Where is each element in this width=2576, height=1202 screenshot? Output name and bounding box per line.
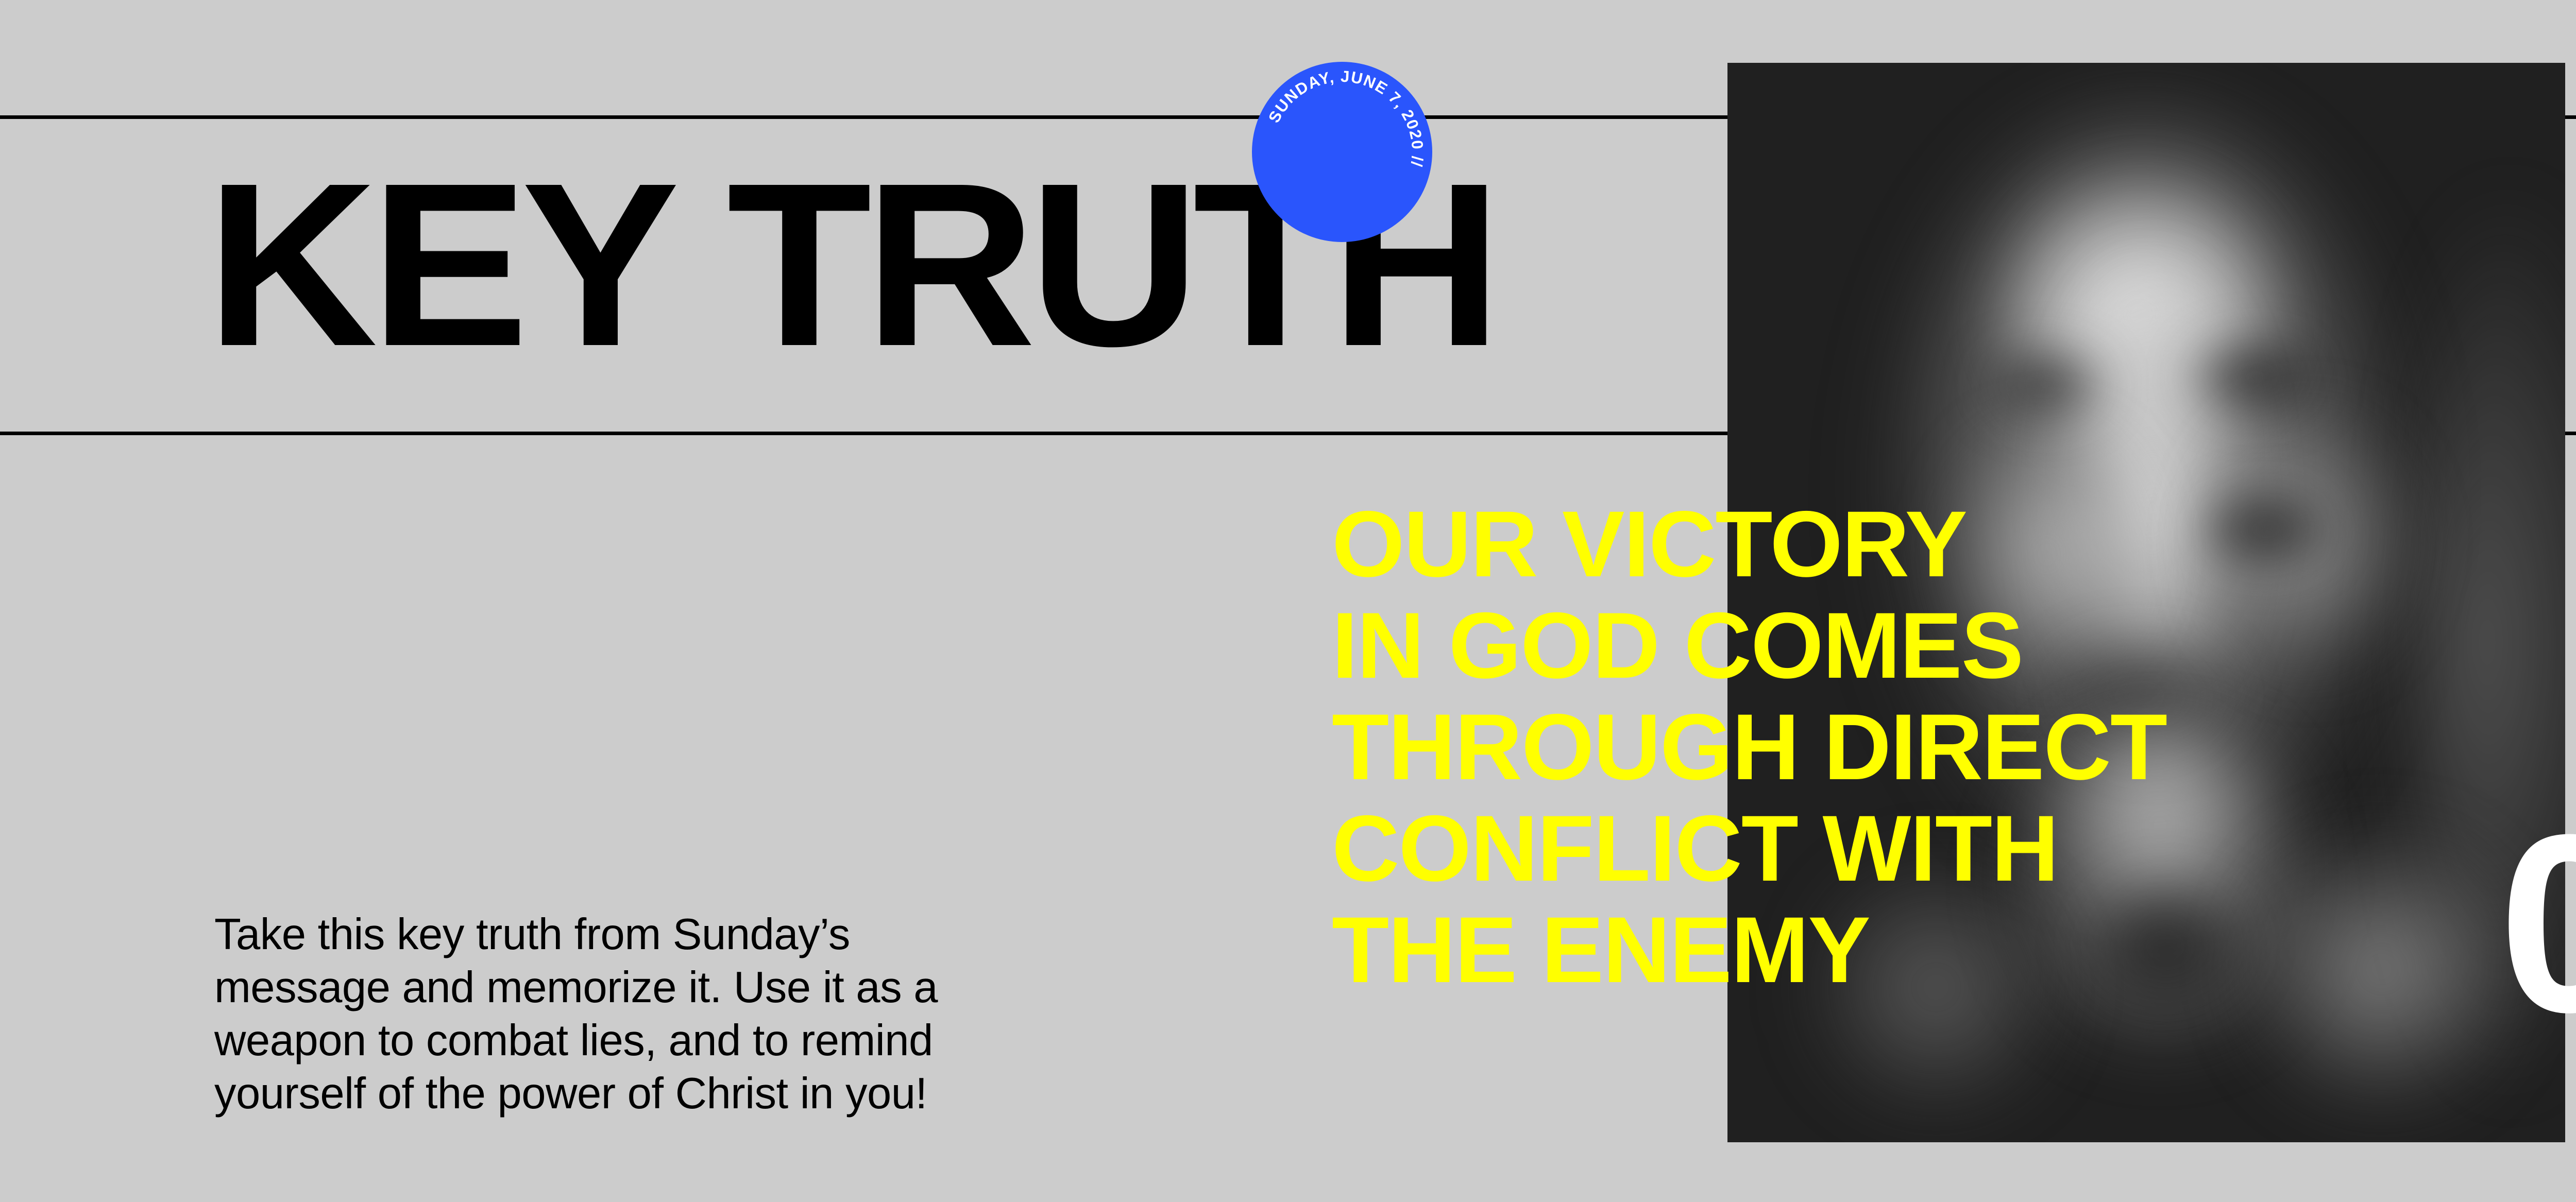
- date-badge: SUNDAY, JUNE 7, 2020 //: [1252, 62, 1432, 242]
- date-badge-text-ring: SUNDAY, JUNE 7, 2020 //: [1252, 62, 1432, 242]
- slide-canvas: KEY TRUTH SUNDAY, JUNE 7, 2020 // OUR V: [0, 0, 2576, 1202]
- date-badge-label: SUNDAY, JUNE 7, 2020 //: [1265, 67, 1427, 168]
- statement-line-5: THE ENEMY: [1332, 899, 2166, 1001]
- statement-line-4: CONFLICT WITH: [1332, 798, 2166, 899]
- portrait-blob-mouth: [2201, 490, 2330, 568]
- body-paragraph: Take this key truth from Sunday’s messag…: [214, 908, 967, 1120]
- statement-text: OUR VICTORY IN GOD COMES THROUGH DIRECT …: [1332, 493, 2166, 1001]
- portrait-blob-shoulder-right: [2248, 835, 2516, 1103]
- statement-line-1: OUR VICTORY: [1332, 493, 2166, 595]
- slide-number: 04: [2499, 797, 2576, 1051]
- statement-line-2: IN GOD COMES: [1332, 595, 2166, 696]
- portrait-blob-eye-right: [2191, 341, 2320, 413]
- date-badge-label-path: SUNDAY, JUNE 7, 2020 //: [1265, 67, 1427, 168]
- portrait-blob-eye-left: [1985, 351, 2104, 418]
- statement-line-3: THROUGH DIRECT: [1332, 696, 2166, 798]
